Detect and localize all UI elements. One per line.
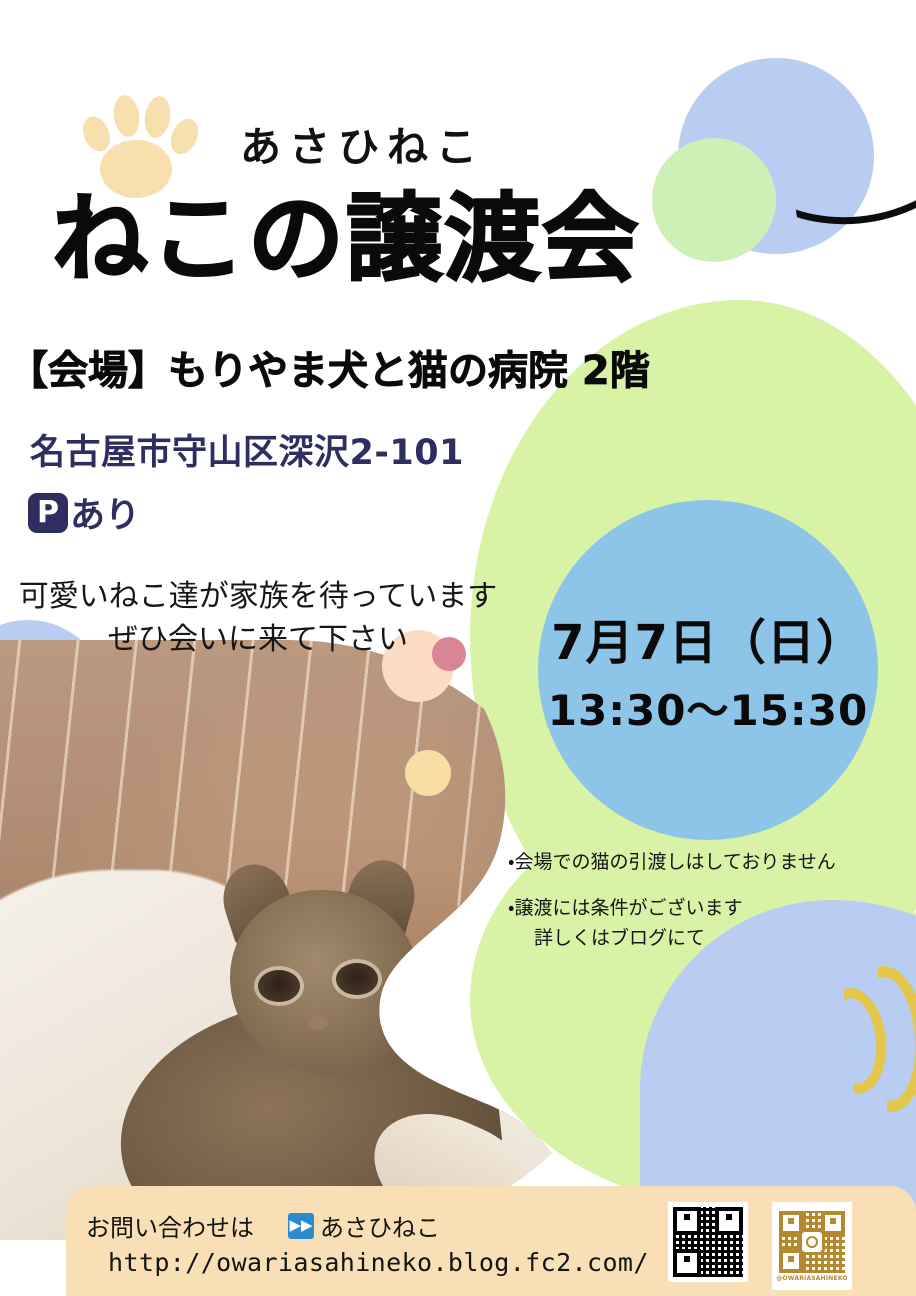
tagline-line-2: ぜひ会いに来て下さい: [0, 619, 516, 662]
instagram-qr-card[interactable]: @OWARIASAHINEKO: [772, 1202, 852, 1290]
brand-name: あさひねこ: [240, 113, 485, 173]
note-item-2-line-1: ・譲渡には条件がございます: [508, 897, 742, 919]
poster-canvas: あさひねこ ねこの譲渡会 【会場】もりやま犬と猫の病院 2階 名古屋市守山区深沢…: [0, 0, 916, 1296]
parking-info: P あり: [28, 487, 140, 538]
tagline-line-1: 可愛いねこ達が家族を待っています: [19, 579, 498, 614]
footer-banner: お問い合わせは ▶▶ あさひねこ http://owariasahineko.b…: [66, 1186, 916, 1296]
instagram-icon: [799, 1229, 825, 1255]
page-title: ねこの譲渡会: [52, 191, 640, 287]
blog-url-link[interactable]: http://owariasahineko.blog.fc2.com/: [108, 1248, 649, 1277]
venue-line: 【会場】もりやま犬と猫の病院 2階: [8, 338, 650, 396]
kitten-nose: [308, 1016, 328, 1030]
note-item-1: ・会場での猫の引渡しはしておりません: [508, 848, 836, 877]
parking-label: あり: [70, 487, 140, 538]
blog-qr-code-icon: [673, 1207, 743, 1277]
kitten-figure: [120, 820, 550, 1240]
blog-qr-card[interactable]: [668, 1202, 748, 1282]
contact-label: お問い合わせは: [86, 1208, 254, 1243]
note-item-2-line-2: 詳しくはブログにて: [508, 924, 836, 953]
qr-finder-top-left: [673, 1207, 701, 1235]
contact-name: あさひねこ: [320, 1208, 440, 1243]
qr-code-area: @OWARIASAHINEKO: [668, 1202, 852, 1290]
date-badge: 7月7日（日） 13:30〜15:30: [538, 500, 878, 840]
ig-qr-finder-top-right: [821, 1211, 845, 1235]
instagram-qr-code-icon: [779, 1211, 845, 1273]
green-circle-top: [652, 138, 776, 262]
kitten-eye-left: [258, 970, 300, 1002]
event-date: 7月7日（日）: [551, 603, 865, 673]
paw-toe-2: [111, 93, 142, 138]
fast-forward-icon: ▶▶: [288, 1213, 314, 1239]
qr-finder-top-right: [715, 1207, 743, 1235]
event-time: 13:30〜15:30: [548, 677, 868, 738]
notes-list: ・会場での猫の引渡しはしておりません ・譲渡には条件がございます 詳しくはブログ…: [508, 848, 836, 953]
qr-finder-bottom-left: [673, 1249, 701, 1277]
tagline: 可愛いねこ達が家族を待っています ぜひ会いに来て下さい: [0, 576, 516, 661]
paw-toe-4: [166, 115, 204, 159]
note-item-2: ・譲渡には条件がございます 詳しくはブログにて: [508, 894, 836, 953]
paw-toe-3: [142, 94, 173, 139]
instagram-handle: @OWARIASAHINEKO: [776, 1275, 847, 1282]
kitten-eye-right: [336, 963, 378, 995]
parking-p-icon: P: [28, 493, 68, 533]
paw-print-icon: [72, 86, 198, 196]
address-line: 名古屋市守山区深沢2-101: [30, 424, 464, 475]
contact-row: お問い合わせは ▶▶ あさひねこ: [86, 1208, 440, 1243]
cream-dot-icon: [405, 750, 451, 796]
